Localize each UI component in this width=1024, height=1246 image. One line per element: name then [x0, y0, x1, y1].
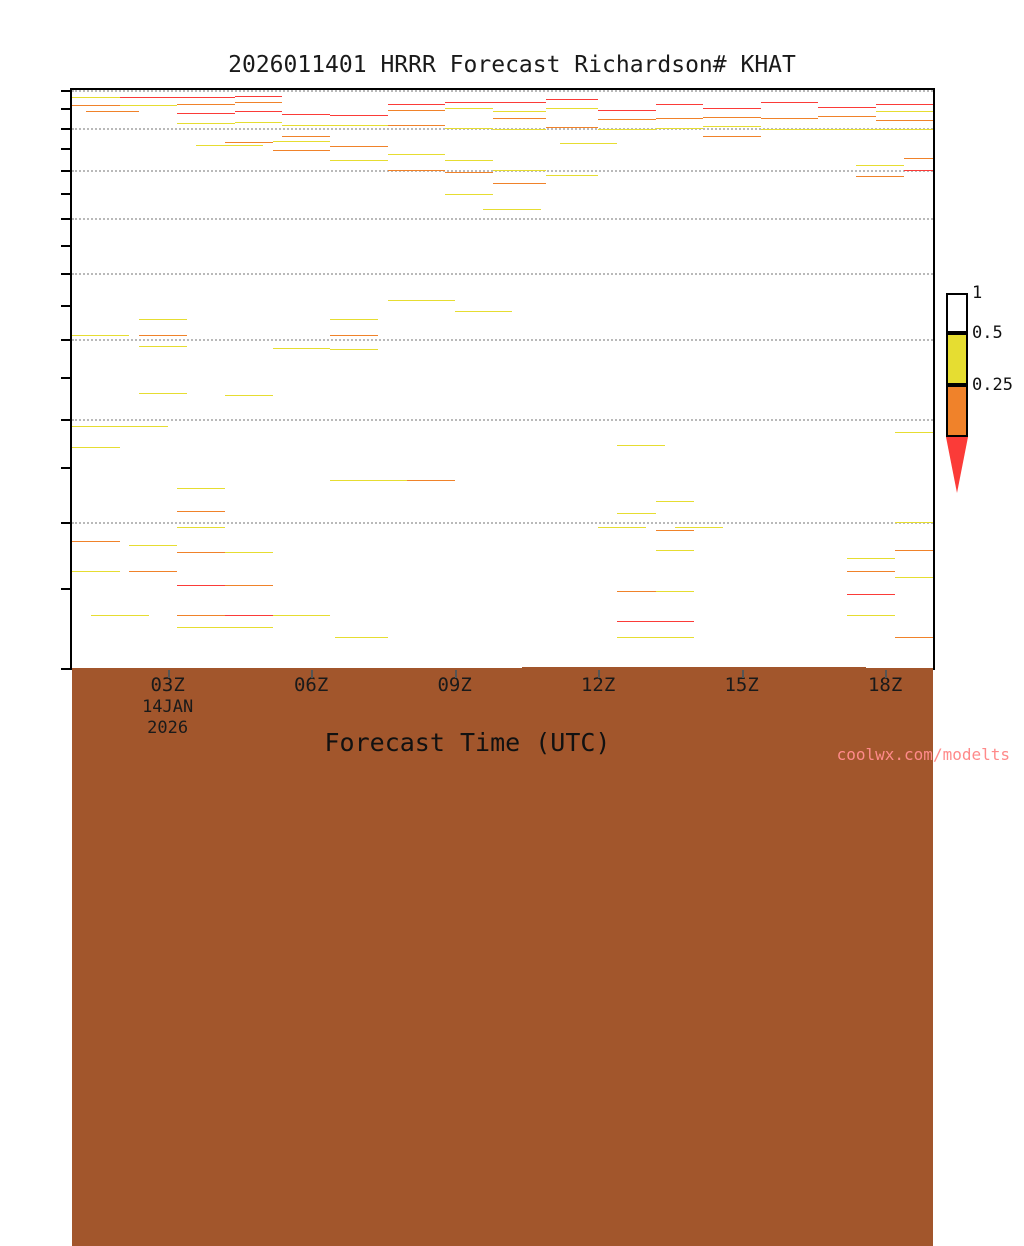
heatmap-cell — [455, 311, 512, 312]
heatmap-cell — [761, 129, 818, 130]
heatmap-cell — [120, 97, 177, 98]
heatmap-cell — [330, 115, 387, 116]
heatmap-cell — [904, 158, 933, 159]
heatmap-cell — [445, 108, 493, 109]
heatmap-cell — [895, 432, 933, 433]
heatmap-cell — [546, 175, 599, 176]
y-tick-mark — [61, 467, 70, 469]
heatmap-cell — [617, 591, 655, 592]
heatmap-cells — [72, 90, 933, 668]
heatmap-cell — [196, 145, 263, 146]
heatmap-cell — [656, 530, 694, 531]
heatmap-cell — [72, 335, 129, 336]
heatmap-cell — [388, 110, 445, 111]
heatmap-cell — [235, 111, 283, 112]
heatmap-cell — [895, 577, 933, 578]
heatmap-cell — [273, 150, 330, 151]
heatmap-cell — [617, 637, 694, 638]
heatmap-cell — [598, 129, 655, 130]
heatmap-cell — [388, 104, 445, 105]
heatmap-cell — [546, 108, 599, 109]
heatmap-cell — [546, 99, 599, 100]
heatmap-cell — [493, 118, 546, 119]
heatmap-cell — [656, 118, 704, 119]
y-tick-mark — [61, 668, 70, 670]
heatmap-cell — [225, 585, 273, 586]
heatmap-cell — [388, 154, 445, 155]
heatmap-cell — [656, 104, 704, 105]
colorbar-label: 0.25 — [972, 375, 1013, 395]
heatmap-cell — [876, 111, 933, 112]
heatmap-cell — [177, 104, 234, 105]
y-tick-mark — [61, 305, 70, 307]
y-tick-mark — [61, 588, 70, 590]
colorbar-segment — [946, 293, 968, 333]
heatmap-cell — [282, 125, 330, 126]
y-tick-mark — [61, 339, 70, 341]
heatmap-cell — [598, 110, 655, 111]
heatmap-cell — [235, 122, 283, 123]
heatmap-cell — [847, 615, 895, 616]
x-tick-mark — [168, 670, 170, 678]
heatmap-cell — [598, 119, 655, 120]
heatmap-cell — [330, 480, 407, 481]
heatmap-cell — [445, 118, 493, 119]
heatmap-cell — [388, 170, 445, 171]
heatmap-cell — [761, 102, 818, 103]
heatmap-cell — [225, 615, 273, 616]
heatmap-cell — [388, 300, 455, 301]
heatmap-cell — [761, 118, 818, 119]
y-tick-mark — [61, 90, 70, 92]
heatmap-cell — [656, 111, 704, 112]
heatmap-cell — [388, 116, 445, 117]
x-tick-mark — [311, 670, 313, 678]
surface-line — [866, 665, 933, 668]
heatmap-cell — [483, 209, 540, 210]
heatmap-cell — [895, 637, 933, 638]
y-tick-mark — [61, 170, 70, 172]
heatmap-cell — [273, 348, 330, 349]
heatmap-cell — [86, 111, 139, 112]
heatmap-cell — [330, 319, 378, 320]
heatmap-cell — [876, 104, 933, 105]
heatmap-cell — [225, 395, 273, 396]
heatmap-cell — [388, 125, 445, 126]
heatmap-cell — [72, 105, 120, 106]
heatmap-cell — [493, 102, 546, 103]
x-tick-mark — [455, 670, 457, 678]
x-tick-mark — [885, 670, 887, 678]
heatmap-cell — [598, 527, 646, 528]
heatmap-cell — [856, 176, 904, 177]
heatmap-cell — [91, 615, 148, 616]
heatmap-cell — [847, 558, 895, 559]
heatmap-cell — [177, 123, 234, 124]
heatmap-cell — [847, 594, 895, 595]
heatmap-cell — [330, 146, 387, 147]
heatmap-cell — [703, 136, 760, 137]
heatmap-cell — [675, 527, 723, 528]
y-tick-mark — [61, 218, 70, 220]
heatmap-cell — [177, 527, 225, 528]
heatmap-cell — [139, 319, 187, 320]
heatmap-cell — [330, 349, 378, 350]
heatmap-cell — [445, 128, 493, 129]
heatmap-cell — [72, 97, 120, 98]
gridline-700 — [72, 218, 933, 220]
heatmap-cell — [656, 591, 694, 592]
heatmap-cell — [225, 142, 273, 143]
heatmap-cell — [177, 113, 234, 114]
heatmap-cell — [904, 170, 933, 171]
heatmap-cell — [703, 126, 760, 127]
y-tick-mark — [61, 419, 70, 421]
heatmap-cell — [895, 550, 933, 551]
heatmap-cell — [72, 426, 168, 427]
credit-watermark: coolwx.com/modelts — [837, 745, 1010, 764]
heatmap-cell — [656, 550, 694, 551]
heatmap-cell — [177, 488, 225, 489]
heatmap-cell — [847, 571, 895, 572]
heatmap-cell — [335, 637, 388, 638]
heatmap-cell — [856, 165, 904, 166]
heatmap-cell — [445, 172, 493, 173]
heatmap-cell — [818, 116, 875, 117]
heatmap-cell — [560, 143, 617, 144]
colorbar-label: 0.5 — [972, 323, 1003, 343]
y-tick-mark — [61, 245, 70, 247]
x-tick-mark — [742, 670, 744, 678]
heatmap-cell — [493, 111, 546, 112]
surface-line — [522, 664, 866, 667]
heatmap-cell — [177, 585, 225, 586]
heatmap-cell — [330, 335, 378, 336]
gridline-500 — [72, 339, 933, 341]
heatmap-cell — [235, 96, 283, 97]
heatmap-cell — [493, 170, 546, 171]
colorbar-segment — [946, 385, 968, 437]
heatmap-cell — [876, 129, 933, 130]
heatmap-cell — [72, 571, 120, 572]
heatmap-cell — [818, 129, 875, 130]
y-tick-mark — [61, 148, 70, 150]
y-tick-mark — [61, 193, 70, 195]
heatmap-cell — [445, 102, 493, 103]
heatmap-cell — [177, 552, 225, 553]
heatmap-cell — [546, 117, 599, 118]
heatmap-cell — [129, 545, 177, 546]
heatmap-cell — [330, 125, 387, 126]
heatmap-cell — [445, 194, 493, 195]
heatmap-cell — [139, 393, 187, 394]
heatmap-cell — [273, 141, 330, 142]
chart-title: 2026011401 HRRR Forecast Richardson# KHA… — [0, 52, 1024, 78]
heatmap-cell — [493, 129, 546, 130]
heatmap-cell — [235, 102, 283, 103]
heatmap-cell — [177, 627, 273, 628]
heatmap-cell — [177, 511, 225, 512]
heatmap-cell — [177, 615, 225, 616]
heatmap-cell — [120, 105, 177, 106]
heatmap-cell — [225, 552, 273, 553]
heatmap-cell — [493, 183, 546, 184]
y-tick-mark — [61, 108, 70, 110]
heatmap-cell — [282, 114, 330, 115]
colorbar-bottom-arrow — [946, 437, 968, 493]
heatmap-cell — [895, 522, 933, 523]
heatmap-cell — [273, 615, 330, 616]
gridline-300 — [72, 522, 933, 524]
gridline-400 — [72, 419, 933, 421]
heatmap-cell — [546, 127, 599, 128]
y-tick-mark — [61, 522, 70, 524]
colorbar-label: 1 — [972, 283, 982, 303]
heatmap-cell — [72, 447, 120, 448]
heatmap-cell — [72, 541, 120, 542]
heatmap-cell — [876, 120, 933, 121]
heatmap-cell — [282, 136, 330, 137]
colorbar-segment — [946, 333, 968, 385]
plot-area — [70, 88, 935, 670]
x-axis-label: Forecast Time (UTC) — [0, 728, 935, 757]
heatmap-cell — [617, 445, 665, 446]
y-tick-mark — [61, 377, 70, 379]
colorbar-top-arrow — [946, 267, 968, 293]
gridline-1000 — [72, 90, 933, 92]
heatmap-cell — [177, 97, 234, 98]
heatmap-cell — [656, 128, 704, 129]
heatmap-cell — [445, 160, 493, 161]
heatmap-cell — [818, 107, 875, 108]
heatmap-cell — [330, 160, 387, 161]
x-tick-mark — [598, 670, 600, 678]
heatmap-cell — [617, 513, 655, 514]
y-tick-mark — [61, 273, 70, 275]
heatmap-cell — [407, 480, 455, 481]
y-tick-mark — [61, 128, 70, 130]
heatmap-cell — [617, 621, 694, 622]
heatmap-cell — [703, 108, 760, 109]
heatmap-cell — [129, 571, 177, 572]
colorbar: 10.50.25 — [946, 293, 968, 448]
heatmap-cell — [656, 501, 694, 502]
surface-line — [72, 665, 522, 668]
heatmap-cell — [139, 346, 187, 347]
heatmap-cell — [761, 109, 818, 110]
heatmap-cell — [139, 335, 187, 336]
heatmap-cell — [703, 117, 760, 118]
gridline-600 — [72, 273, 933, 275]
